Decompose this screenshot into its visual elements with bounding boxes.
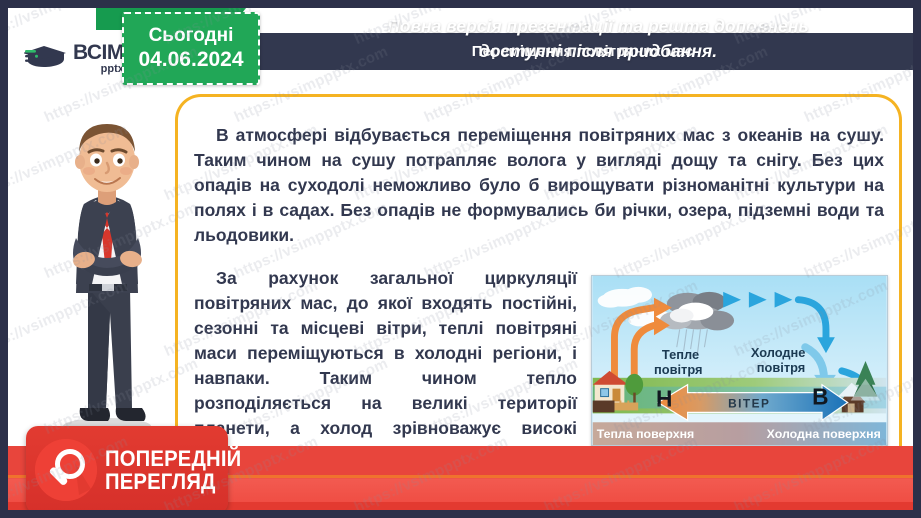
warm-air-label: Тепле [662,347,699,362]
preview-line-1: ПОПЕРЕДНІЙ [105,447,241,470]
date-badge-label: Сьогодні [149,25,234,47]
air-mass-circulation-diagram: Тепле повітря Холодне повітря [591,275,888,446]
magnifier-icon [35,439,97,501]
banner-line-2: доступні після придбання. [298,39,898,64]
cold-air-label: Холодне [751,345,806,360]
today-date-badge: Сьогодні 04.06.2024 [122,12,260,85]
body-paragraph-2: За рахунок загальної циркуляції повітрян… [194,266,577,466]
paragraph-1-text: В атмосфері відбувається переміщення пов… [194,125,884,245]
warm-surface-label: Тепла поверхня [597,427,695,441]
graduation-cap-icon [24,42,70,76]
wind-label: ВІТЕР [728,396,770,410]
paragraph-2-text: За рахунок загальної циркуляції повітрян… [194,268,577,463]
preview-badge-label: ПОПЕРЕДНІЙ ПЕРЕГЛЯД [105,447,241,493]
svg-text:повітря: повітря [757,360,805,375]
date-badge-value: 04.06.2024 [138,47,243,72]
low-pressure-label: Н [656,385,672,411]
banner-line-1: Повна версія презентації та решта доповн… [298,14,898,39]
preview-badge[interactable]: ПОПЕРЕДНІЙ ПЕРЕГЛЯД [26,426,228,510]
svg-text:повітря: повітря [654,362,702,377]
logo-main-text: ВСІМ [73,42,124,63]
businessman-illustration [32,108,182,438]
presentation-slide: Переміщення повітряних мас ВСІМ pptx Сьо… [0,0,921,518]
purchase-notice-text: Повна версія презентації та решта доповн… [298,14,898,64]
logo-sub-text: pptx [73,64,124,75]
body-paragraph-1: В атмосфері відбувається переміщення пов… [194,123,884,248]
cold-surface-label: Холодна поверхня [767,427,881,441]
high-pressure-label: В [812,383,828,409]
preview-line-2: ПЕРЕГЛЯД [105,470,241,493]
slide-canvas: Переміщення повітряних мас ВСІМ pptx Сьо… [8,8,913,510]
logo-wordmark: ВСІМ pptx [73,42,124,75]
